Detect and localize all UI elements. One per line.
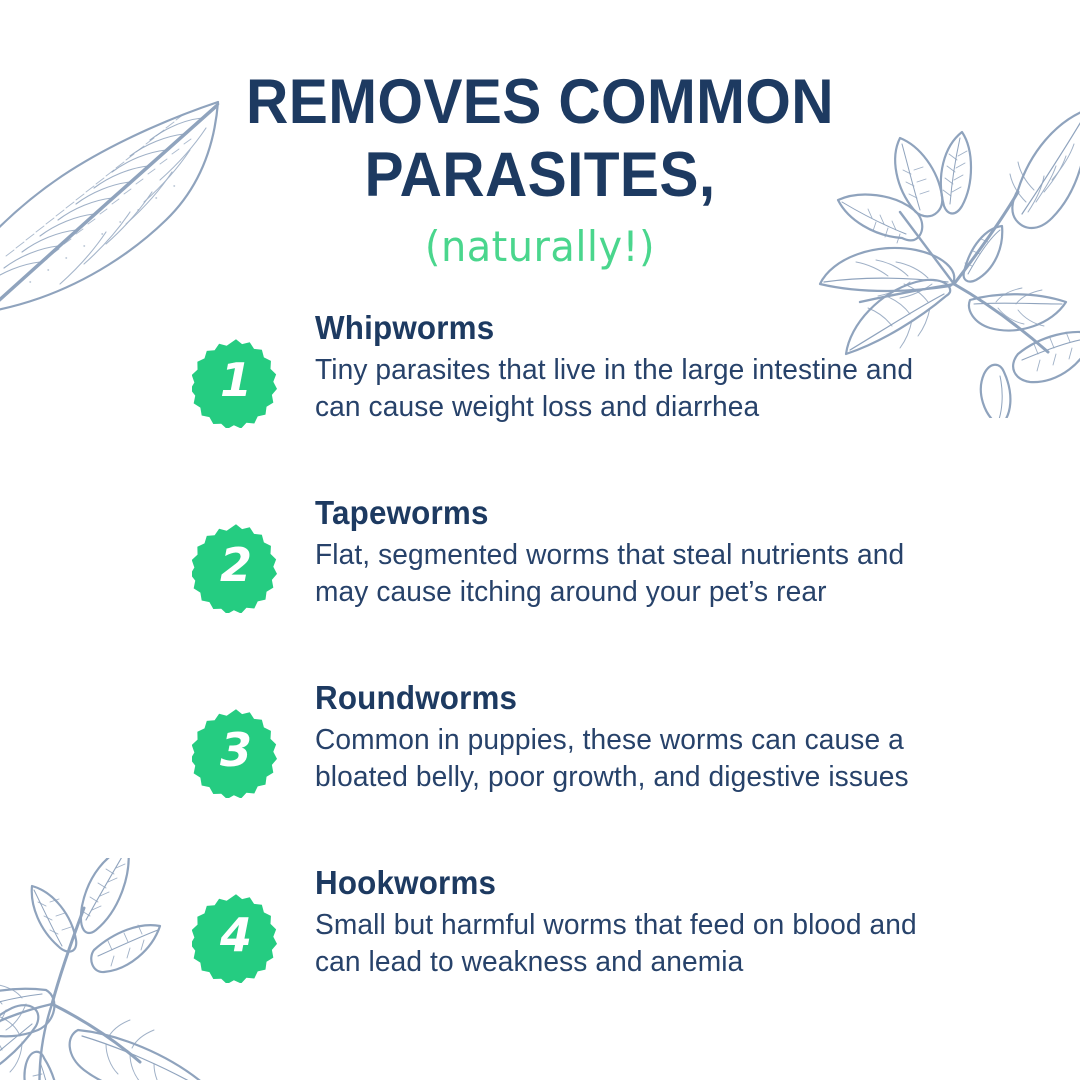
number-badge-3: 3 xyxy=(192,704,280,798)
headline-line-1: REMOVES COMMON xyxy=(38,66,1042,139)
list-item-description: Flat, segmented worms that steal nutrien… xyxy=(315,537,936,610)
badge-number-label: 4 xyxy=(192,889,280,983)
parasite-list: 1 Whipworms Tiny parasites that live in … xyxy=(192,302,982,1009)
number-badge-1: 1 xyxy=(192,334,280,428)
subheadline: (naturally!) xyxy=(27,226,1053,268)
list-item-title: Hookworms xyxy=(315,865,923,901)
list-item-text: Hookworms Small but harmful worms that f… xyxy=(280,857,955,980)
headline-line-2: PARASITES, xyxy=(38,139,1042,212)
list-item-description: Tiny parasites that live in the large in… xyxy=(315,352,936,425)
list-item: 4 Hookworms Small but harmful worms that… xyxy=(192,857,982,1009)
page-title: REMOVES COMMON PARASITES, xyxy=(38,66,1042,212)
list-item-text: Roundworms Common in puppies, these worm… xyxy=(280,672,955,795)
list-item: 2 Tapeworms Flat, segmented worms that s… xyxy=(192,487,982,639)
list-item-title: Tapeworms xyxy=(315,495,923,531)
list-item: 1 Whipworms Tiny parasites that live in … xyxy=(192,302,982,454)
list-item-description: Small but harmful worms that feed on blo… xyxy=(315,907,936,980)
list-item-title: Roundworms xyxy=(315,680,923,716)
poster-canvas: REMOVES COMMON PARASITES, (naturally!) 1… xyxy=(0,0,1080,1080)
number-badge-4: 4 xyxy=(192,889,280,983)
badge-number-label: 3 xyxy=(192,704,280,798)
list-item-text: Tapeworms Flat, segmented worms that ste… xyxy=(280,487,955,610)
list-item-text: Whipworms Tiny parasites that live in th… xyxy=(280,302,955,425)
title-block: REMOVES COMMON PARASITES, (naturally!) xyxy=(0,66,1080,268)
number-badge-2: 2 xyxy=(192,519,280,613)
list-item-title: Whipworms xyxy=(315,310,923,346)
badge-number-label: 1 xyxy=(192,334,280,428)
badge-number-label: 2 xyxy=(192,519,280,613)
list-item: 3 Roundworms Common in puppies, these wo… xyxy=(192,672,982,824)
list-item-description: Common in puppies, these worms can cause… xyxy=(315,722,936,795)
